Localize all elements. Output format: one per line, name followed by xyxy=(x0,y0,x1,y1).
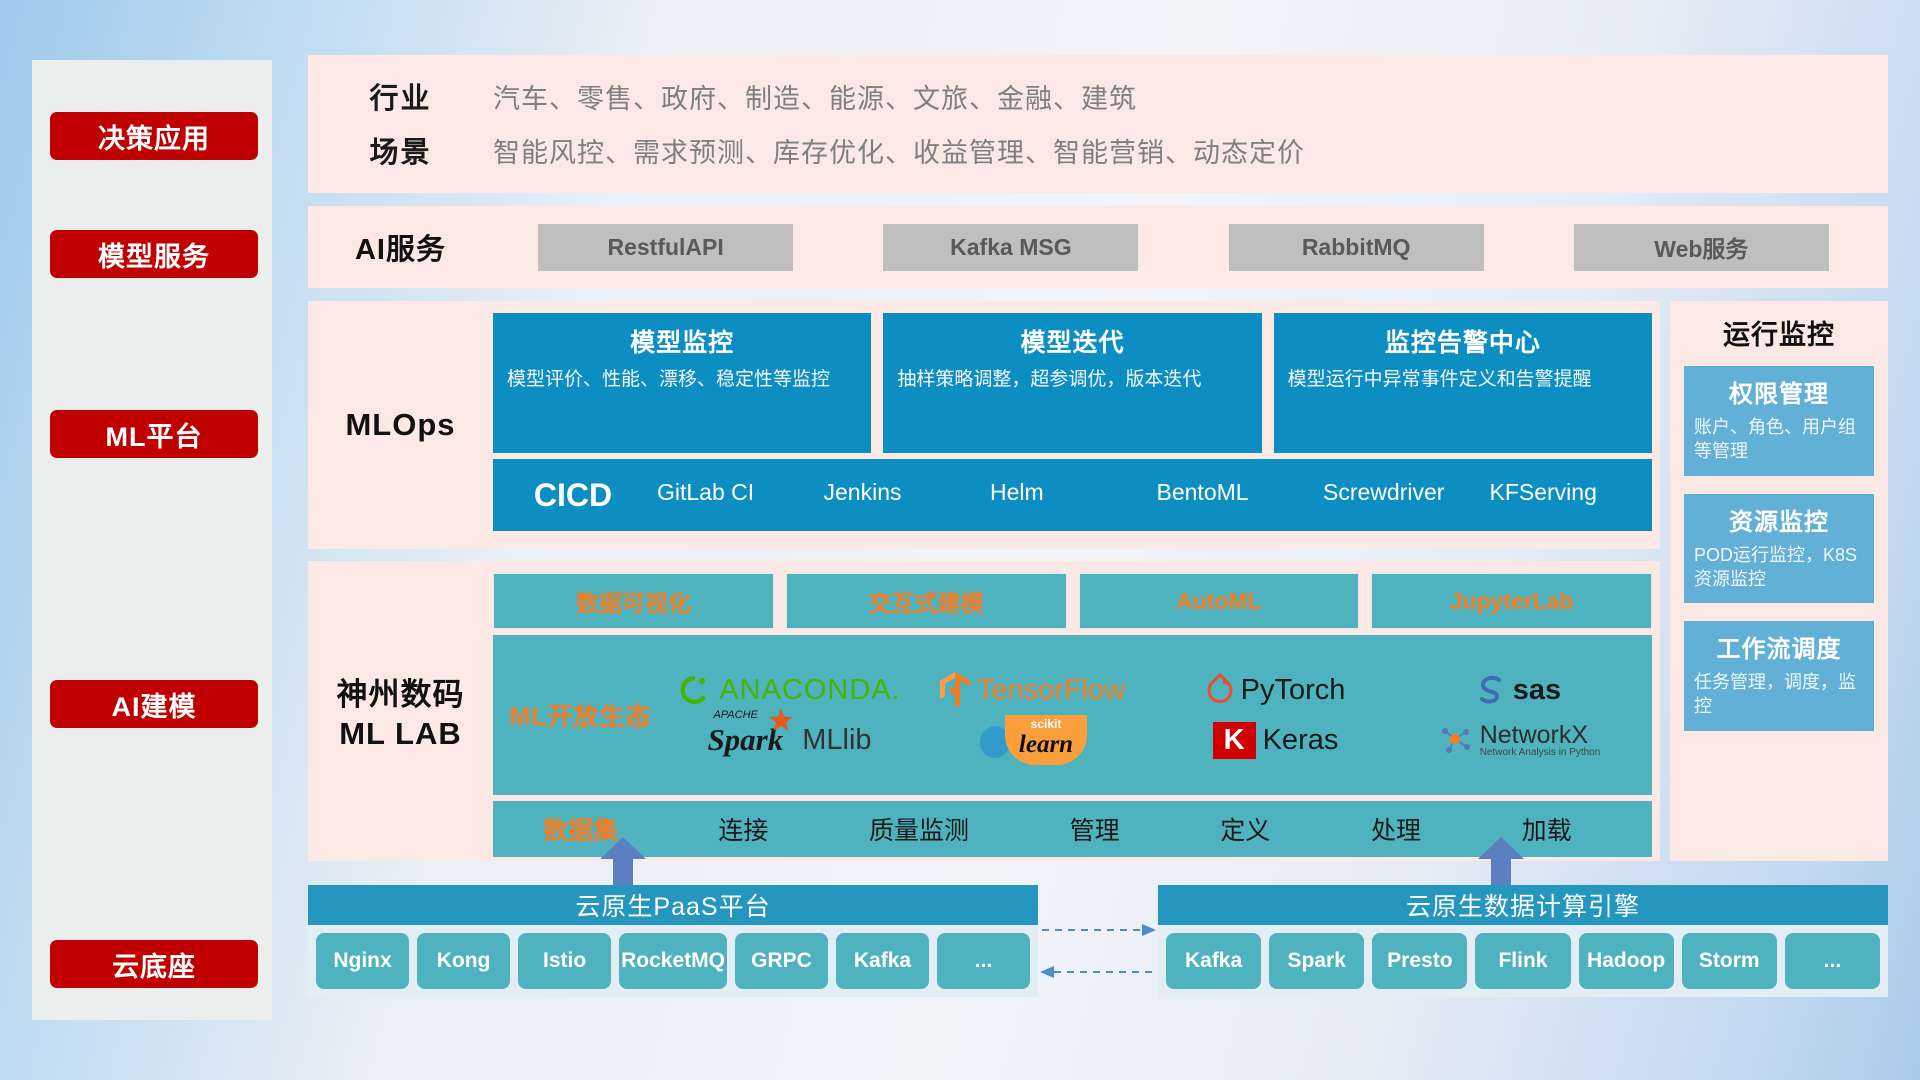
card-desc: 任务管理，调度，监控 xyxy=(1694,670,1864,719)
industry-value: 汽车、零售、政府、制造、能源、文旅、金融、建筑 xyxy=(493,77,1888,116)
scikit-learn-badge: scikit learn xyxy=(1005,715,1087,765)
mllab-label: 神州数码 ML LAB xyxy=(308,573,493,857)
cloud-chip-more[interactable]: ... xyxy=(937,933,1030,989)
cloud-paas-column: 云原生PaaS平台 Nginx Kong Istio RocketMQ GRPC… xyxy=(308,885,1038,1025)
mllab-content: 数据可视化 交互式建模 AutoML JupyterLab ML开放生态 xyxy=(493,573,1660,857)
cloud-chip-storm[interactable]: Storm xyxy=(1682,933,1777,989)
mllib-wordmark: MLlib xyxy=(802,724,871,757)
cloud-engine-chip-group: Kafka Spark Presto Flink Hadoop Storm ..… xyxy=(1158,925,1888,997)
mlops-card-group: 模型监控 模型评价、性能、漂移、稳定性等监控 模型迭代 抽样策略调整，超参调优，… xyxy=(493,313,1652,453)
cicd-item-gitlab-ci[interactable]: GitLab CI xyxy=(653,459,820,505)
cloud-paas-title: 云原生PaaS平台 xyxy=(308,885,1038,925)
tool-chip-data-visualization[interactable]: 数据可视化 xyxy=(493,573,774,629)
cloud-engine-title: 云原生数据计算引擎 xyxy=(1158,885,1888,925)
cicd-title: CICD xyxy=(493,459,653,531)
mllab-label-line2: ML LAB xyxy=(337,715,465,754)
mlops-card-model-iteration[interactable]: 模型迭代 抽样策略调整，超参调优，版本迭代 xyxy=(883,313,1261,453)
dataset-item-connect[interactable]: 连接 xyxy=(718,811,768,847)
keras-logo: K Keras xyxy=(1213,722,1339,759)
learn-wordmark: learn xyxy=(1019,731,1073,759)
mllab-tool-group: 数据可视化 交互式建模 AutoML JupyterLab xyxy=(493,573,1652,629)
cloud-chip-kafka-engine[interactable]: Kafka xyxy=(1166,933,1261,989)
card-title: 模型监控 xyxy=(507,323,857,359)
cloud-chip-rocketmq[interactable]: RocketMQ xyxy=(619,933,727,989)
cloud-chip-spark[interactable]: Spark xyxy=(1269,933,1364,989)
cloud-engine-column: 云原生数据计算引擎 Kafka Spark Presto Flink Hadoo… xyxy=(1158,885,1888,1025)
cloud-chip-hadoop[interactable]: Hadoop xyxy=(1579,933,1674,989)
pytorch-wordmark: PyTorch xyxy=(1241,674,1346,707)
cloud-paas-chip-group: Nginx Kong Istio RocketMQ GRPC Kafka ... xyxy=(308,925,1038,997)
networkx-graph-icon xyxy=(1437,723,1473,757)
platform-section: MLOps 模型监控 模型评价、性能、漂移、稳定性等监控 模型迭代 抽样策略调整… xyxy=(308,301,1888,861)
card-title: 监控告警中心 xyxy=(1288,323,1638,359)
apache-tag: APACHE xyxy=(713,709,757,721)
card-title: 资源监控 xyxy=(1694,502,1864,537)
cicd-item-kfserving[interactable]: KFServing xyxy=(1486,459,1653,505)
sas-wordmark: sas xyxy=(1513,674,1561,707)
card-title: 权限管理 xyxy=(1694,374,1864,409)
mlops-label: MLOps xyxy=(308,313,493,537)
scenario-label: 场景 xyxy=(308,129,493,171)
mlops-card-alert-center[interactable]: 监控告警中心 模型运行中异常事件定义和告警提醒 xyxy=(1274,313,1652,453)
cloud-base-section: 云原生PaaS平台 Nginx Kong Istio RocketMQ GRPC… xyxy=(308,885,1888,1025)
card-desc: 模型评价、性能、漂移、稳定性等监控 xyxy=(507,367,857,393)
run-monitor-card-resource[interactable]: 资源监控 POD运行监控，K8S资源监控 xyxy=(1684,494,1874,604)
rail-chip-decision-app[interactable]: 决策应用 xyxy=(50,112,258,160)
rail-chip-model-service[interactable]: 模型服务 xyxy=(50,230,258,278)
dataset-item-definition[interactable]: 定义 xyxy=(1220,811,1270,847)
rail-chip-cloud-base[interactable]: 云底座 xyxy=(50,940,258,988)
sas-logo: sas xyxy=(1476,674,1561,707)
cloud-chip-flink[interactable]: Flink xyxy=(1475,933,1570,989)
scikit-wordmark: scikit xyxy=(1019,717,1073,731)
mllab-band: 神州数码 ML LAB 数据可视化 交互式建模 AutoML JupyterLa… xyxy=(308,561,1660,861)
mlops-band: MLOps 模型监控 模型评价、性能、漂移、稳定性等监控 模型迭代 抽样策略调整… xyxy=(308,301,1660,549)
bidirectional-dashed-arrows-icon xyxy=(1038,910,1158,1010)
ml-ecosystem-label: ML开放生态 xyxy=(493,697,668,733)
networkx-wordmark: NetworkX xyxy=(1480,722,1601,748)
left-rail: 决策应用 模型服务 ML平台 AI建模 云底座 xyxy=(32,60,272,1020)
cicd-bar: CICD GitLab CI Jenkins Helm BentoML Scre… xyxy=(493,459,1652,531)
cicd-item-screwdriver[interactable]: Screwdriver xyxy=(1319,459,1486,505)
rail-chip-ml-platform[interactable]: ML平台 xyxy=(50,410,258,458)
tensorflow-mark-icon xyxy=(940,672,970,708)
ml-ecosystem-logo-group: ANACONDA. TensorFlow xyxy=(668,665,1652,765)
keras-wordmark: Keras xyxy=(1263,724,1339,757)
industry-label: 行业 xyxy=(308,75,493,117)
industry-scenario-band: 行业 汽车、零售、政府、制造、能源、文旅、金融、建筑 场景 智能风控、需求预测、… xyxy=(308,55,1888,193)
anaconda-wordmark: ANACONDA. xyxy=(719,674,900,707)
paas-up-arrow-icon xyxy=(600,837,646,885)
cloud-chip-kong[interactable]: Kong xyxy=(417,933,510,989)
tool-chip-jupyterlab[interactable]: JupyterLab xyxy=(1371,573,1652,629)
keras-mark-icon: K xyxy=(1213,722,1256,759)
platform-left: MLOps 模型监控 模型评价、性能、漂移、稳定性等监控 模型迭代 抽样策略调整… xyxy=(308,301,1660,861)
run-monitor-rail: 运行监控 权限管理 账户、角色、用户组等管理 资源监控 POD运行监控，K8S资… xyxy=(1670,301,1888,861)
ml-ecosystem-row: ML开放生态 ANACONDA. xyxy=(493,635,1652,795)
tool-chip-interactive-modeling[interactable]: 交互式建模 xyxy=(786,573,1067,629)
spark-star-icon xyxy=(769,708,793,732)
card-title: 工作流调度 xyxy=(1694,629,1864,664)
anaconda-mark-icon xyxy=(678,673,712,707)
dataset-item-quality-monitoring[interactable]: 质量监测 xyxy=(869,811,969,847)
run-monitor-card-permission[interactable]: 权限管理 账户、角色、用户组等管理 xyxy=(1684,366,1874,476)
card-desc: 模型运行中异常事件定义和告警提醒 xyxy=(1288,367,1638,393)
ai-chip-web-service[interactable]: Web服务 xyxy=(1574,224,1829,271)
card-title: 模型迭代 xyxy=(897,323,1247,359)
card-desc: POD运行监控，K8S资源监控 xyxy=(1694,543,1864,592)
main-column: 行业 汽车、零售、政府、制造、能源、文旅、金融、建筑 场景 智能风控、需求预测、… xyxy=(308,55,1888,861)
scikit-learn-logo: scikit learn xyxy=(978,715,1087,765)
mllab-label-line1: 神州数码 xyxy=(337,676,465,715)
networkx-wordmark-block: NetworkX Network Analysis in Python xyxy=(1480,722,1601,759)
run-monitor-card-workflow[interactable]: 工作流调度 任务管理，调度，监控 xyxy=(1684,621,1874,731)
cloud-chip-more-engine[interactable]: ... xyxy=(1785,933,1880,989)
tool-chip-automl[interactable]: AutoML xyxy=(1079,573,1360,629)
spark-mllib-logo: APACHE Spark MLlib xyxy=(707,722,871,758)
dataset-item-loading[interactable]: 加载 xyxy=(1522,811,1572,847)
engine-up-arrow-icon xyxy=(1478,837,1524,885)
tensorflow-wordmark: TensorFlow xyxy=(977,674,1125,707)
ai-service-label: AI服务 xyxy=(308,226,493,268)
ai-service-chip-group: RestfulAPI Kafka MSG RabbitMQ Web服务 xyxy=(493,224,1888,271)
cloud-chip-nginx[interactable]: Nginx xyxy=(316,933,409,989)
ai-chip-restfulapi[interactable]: RestfulAPI xyxy=(538,224,793,271)
run-monitor-panel: 运行监控 权限管理 账户、角色、用户组等管理 资源监控 POD运行监控，K8S资… xyxy=(1670,301,1888,861)
dataset-item-processing[interactable]: 处理 xyxy=(1371,811,1421,847)
pytorch-logo: PyTorch xyxy=(1206,673,1346,707)
cloud-chip-presto[interactable]: Presto xyxy=(1372,933,1467,989)
cicd-item-helm[interactable]: Helm xyxy=(986,459,1153,505)
card-desc: 抽样策略调整，超参调优，版本迭代 xyxy=(897,367,1247,393)
dataset-item-management[interactable]: 管理 xyxy=(1070,811,1120,847)
ai-chip-kafka-msg[interactable]: Kafka MSG xyxy=(883,224,1138,271)
networkx-logo: NetworkX Network Analysis in Python xyxy=(1437,722,1601,759)
tensorflow-logo: TensorFlow xyxy=(940,672,1125,708)
anaconda-logo: ANACONDA. xyxy=(678,673,900,707)
cloud-chip-kafka[interactable]: Kafka xyxy=(836,933,929,989)
cloud-chip-istio[interactable]: Istio xyxy=(518,933,611,989)
cicd-item-bentoml[interactable]: BentoML xyxy=(1153,459,1320,505)
cloud-chip-grpc[interactable]: GRPC xyxy=(735,933,828,989)
card-desc: 账户、角色、用户组等管理 xyxy=(1694,415,1864,464)
sas-mark-icon xyxy=(1476,674,1506,706)
run-monitor-title: 运行监控 xyxy=(1684,313,1874,352)
networkx-tagline: Network Analysis in Python xyxy=(1480,748,1601,759)
cicd-item-jenkins[interactable]: Jenkins xyxy=(820,459,987,505)
ai-service-band: AI服务 RestfulAPI Kafka MSG RabbitMQ Web服务 xyxy=(308,206,1888,288)
spark-mark: APACHE Spark xyxy=(707,722,783,758)
scenario-value: 智能风控、需求预测、库存优化、收益管理、智能营销、动态定价 xyxy=(493,131,1888,170)
cloud-link-arrows xyxy=(1038,885,1158,1025)
mlops-content: 模型监控 模型评价、性能、漂移、稳定性等监控 模型迭代 抽样策略调整，超参调优，… xyxy=(493,313,1660,537)
pytorch-mark-icon xyxy=(1206,673,1234,707)
rail-chip-ai-modeling[interactable]: AI建模 xyxy=(50,680,258,728)
ai-chip-rabbitmq[interactable]: RabbitMQ xyxy=(1229,224,1484,271)
mlops-card-model-monitoring[interactable]: 模型监控 模型评价、性能、漂移、稳定性等监控 xyxy=(493,313,871,453)
